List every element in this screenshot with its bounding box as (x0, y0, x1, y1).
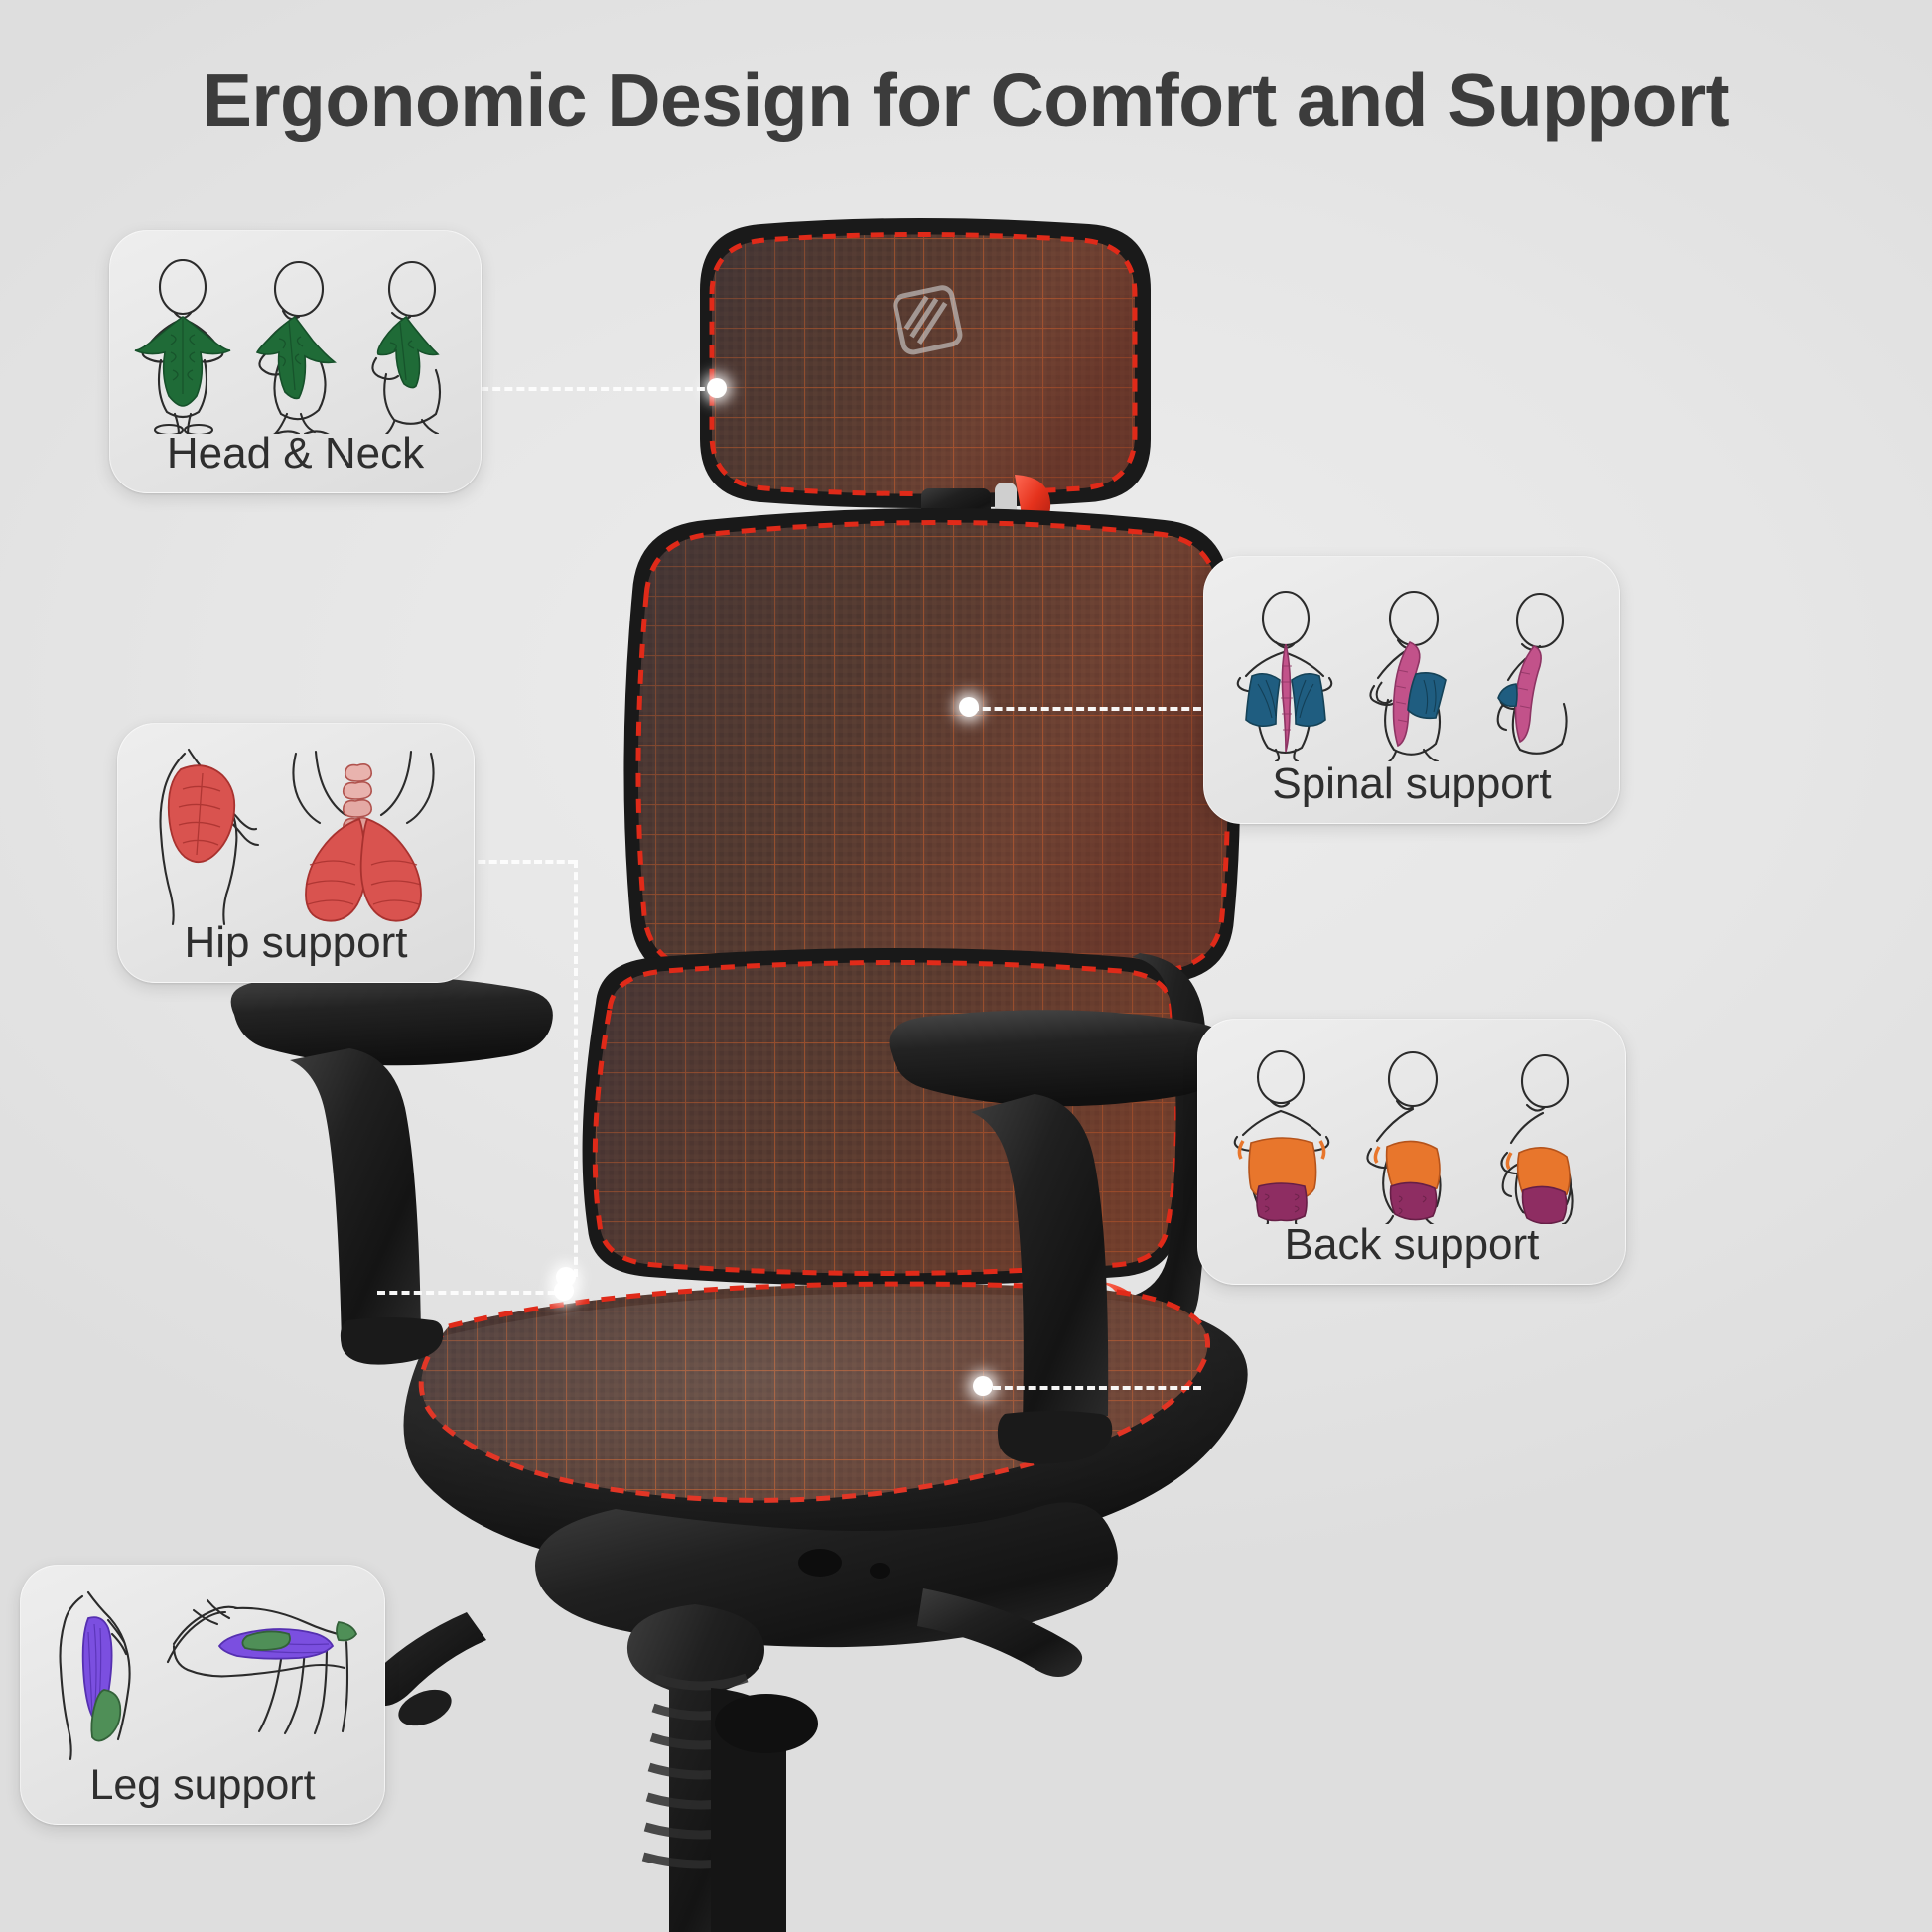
callout-card-head-neck[interactable]: Head & Neck (109, 230, 482, 493)
figure-group-spinal-support (1204, 557, 1619, 761)
infographic-canvas: Ergonomic Design for Comfort and Support (0, 0, 1932, 1932)
figure-group-head-neck (110, 231, 481, 434)
callout-label-hip-support: Hip support (118, 918, 474, 968)
connector-back-support (993, 1386, 1201, 1394)
callout-card-spinal-support[interactable]: Spinal support (1203, 556, 1620, 824)
hotspot-leg-support (554, 1281, 574, 1301)
connector-leg-support (377, 1291, 568, 1299)
thigh-seated-figure (164, 1588, 362, 1763)
glute-side-figure (141, 748, 270, 926)
chair-headrest (700, 218, 1151, 532)
spine-side-figure (1356, 589, 1467, 761)
chair-backrest-upper (623, 508, 1240, 995)
connector-head-neck (469, 387, 717, 395)
lower-back-front-figure (1223, 1049, 1340, 1224)
figure-group-hip-support (118, 724, 474, 926)
callout-card-leg-support[interactable]: Leg support (20, 1565, 385, 1825)
trapezius-side-figure (243, 259, 346, 434)
trapezius-front-figure (131, 259, 234, 434)
connector-spinal-support (971, 707, 1201, 715)
lower-back-side-figure (1353, 1049, 1470, 1224)
chair-gas-cylinder (627, 1604, 818, 1932)
callout-label-back-support: Back support (1198, 1220, 1625, 1270)
figure-group-leg-support (21, 1566, 384, 1768)
callout-label-spinal-support: Spinal support (1204, 759, 1619, 809)
callout-card-hip-support[interactable]: Hip support (117, 723, 475, 983)
hotspot-head-neck (707, 378, 727, 398)
spine-front-figure (1230, 589, 1341, 761)
callout-label-leg-support: Leg support (21, 1761, 384, 1810)
chair-armrest-left (231, 976, 553, 1365)
thigh-front-figure (43, 1588, 152, 1763)
hotspot-back-support (973, 1376, 993, 1396)
trapezius-seated-figure (356, 259, 460, 434)
glute-back-spine-figure (276, 748, 451, 926)
spine-seated-figure (1482, 589, 1593, 761)
connector-hip-support-vertical (574, 860, 582, 1277)
callout-label-head-neck: Head & Neck (110, 429, 481, 479)
hotspot-spinal-support (959, 697, 979, 717)
connector-hip-support (467, 860, 576, 868)
figure-group-back-support (1198, 1020, 1625, 1224)
lower-back-seated-figure (1483, 1049, 1600, 1224)
callout-card-back-support[interactable]: Back support (1197, 1019, 1626, 1285)
